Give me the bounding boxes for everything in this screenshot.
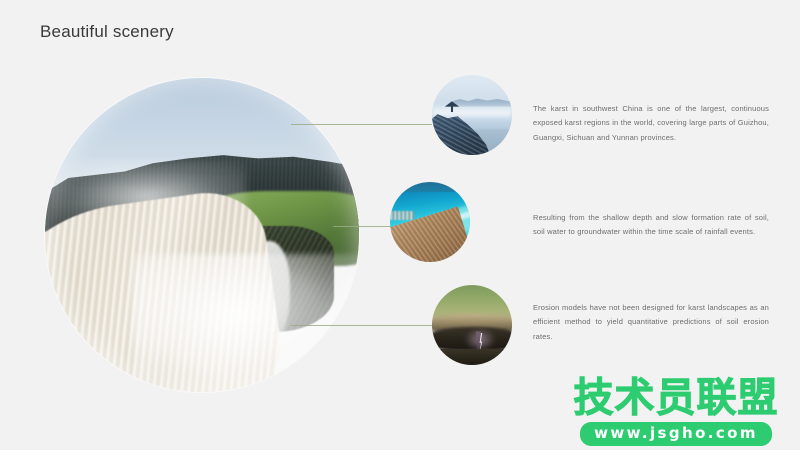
thumbnail-image-3 xyxy=(432,285,512,365)
watermark-logo-text: 技术员联盟 xyxy=(574,378,779,418)
t1-pavilion-post xyxy=(451,106,453,111)
watermark-url-badge: www.jsgho.com xyxy=(580,422,772,446)
description-text-1: The karst in southwest China is one of t… xyxy=(533,102,769,145)
pavilion-icon xyxy=(445,101,459,111)
connector-line-2 xyxy=(333,226,391,227)
connector-line-3 xyxy=(291,325,432,326)
thumbnail-2-art xyxy=(390,182,470,262)
thumbnail-image-1 xyxy=(432,75,512,155)
t3-ground-layer xyxy=(432,349,512,365)
thumbnail-1-art xyxy=(432,75,512,155)
thumbnail-3-art xyxy=(432,285,512,365)
hero-image-waterfall xyxy=(45,78,359,392)
connector-line-1 xyxy=(291,124,432,125)
thumbnail-image-2 xyxy=(390,182,470,262)
watermark: 技术员联盟 www.jsgho.com xyxy=(560,378,792,446)
slide-canvas: Beautiful scenery xyxy=(0,0,800,450)
hero-image-art xyxy=(45,78,359,392)
description-text-2: Resulting from the shallow depth and slo… xyxy=(533,211,769,240)
t2-coastal-town xyxy=(390,211,414,221)
description-text-3: Erosion models have not been designed fo… xyxy=(533,301,769,344)
hero-vignette xyxy=(45,78,359,392)
page-title: Beautiful scenery xyxy=(40,22,174,42)
